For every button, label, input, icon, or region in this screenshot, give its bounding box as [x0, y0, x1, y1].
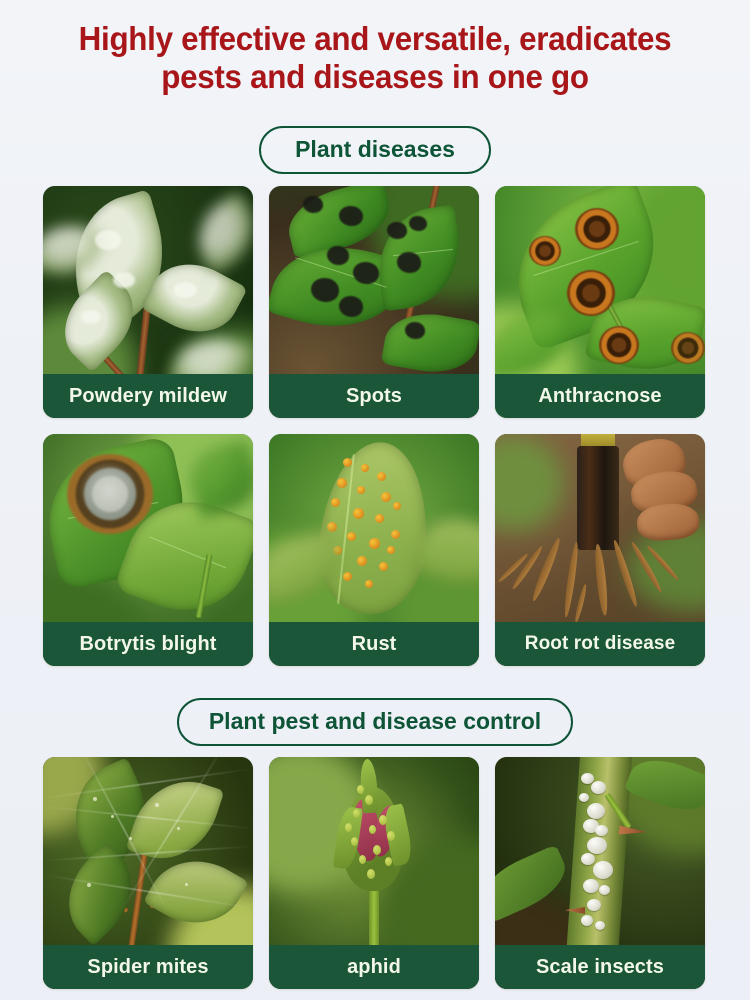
card-spots[interactable]: Spots: [269, 186, 479, 418]
disease-card-row-2: Botrytis blight: [43, 434, 707, 666]
page-title-line-1: Highly effective and versatile, eradicat…: [19, 20, 732, 58]
disease-card-row-1: Powdery mildew: [43, 186, 707, 418]
card-label-botrytis-blight: Botrytis blight: [43, 622, 253, 666]
section-badge-plant-diseases-wrap: Plant diseases: [0, 126, 750, 174]
card-label-rust: Rust: [269, 622, 479, 666]
card-powdery-mildew[interactable]: Powdery mildew: [43, 186, 253, 418]
card-spider-mites[interactable]: Spider mites: [43, 757, 253, 989]
card-label-aphid: aphid: [269, 945, 479, 989]
card-label-scale-insects: Scale insects: [495, 945, 705, 989]
card-label-spider-mites: Spider mites: [43, 945, 253, 989]
card-rust[interactable]: Rust: [269, 434, 479, 666]
card-botrytis-blight[interactable]: Botrytis blight: [43, 434, 253, 666]
card-scale-insects[interactable]: Scale insects: [495, 757, 705, 989]
section-badge-pest-control-wrap: Plant pest and disease control: [0, 698, 750, 746]
card-root-rot-disease[interactable]: Root rot disease: [495, 434, 705, 666]
section-badge-plant-diseases: Plant diseases: [259, 126, 491, 174]
section-badge-pest-control: Plant pest and disease control: [177, 698, 573, 746]
card-anthracnose[interactable]: Anthracnose: [495, 186, 705, 418]
card-label-anthracnose: Anthracnose: [495, 374, 705, 418]
card-aphid[interactable]: aphid: [269, 757, 479, 989]
page-title: Highly effective and versatile, eradicat…: [19, 20, 732, 96]
card-label-spots: Spots: [269, 374, 479, 418]
card-label-root-rot-disease: Root rot disease: [495, 622, 705, 666]
card-label-powdery-mildew: Powdery mildew: [43, 374, 253, 418]
pest-card-row-1: Spider mites: [43, 757, 707, 989]
page-title-line-2: pests and diseases in one go: [19, 58, 732, 96]
infographic-page: Highly effective and versatile, eradicat…: [0, 0, 750, 1000]
